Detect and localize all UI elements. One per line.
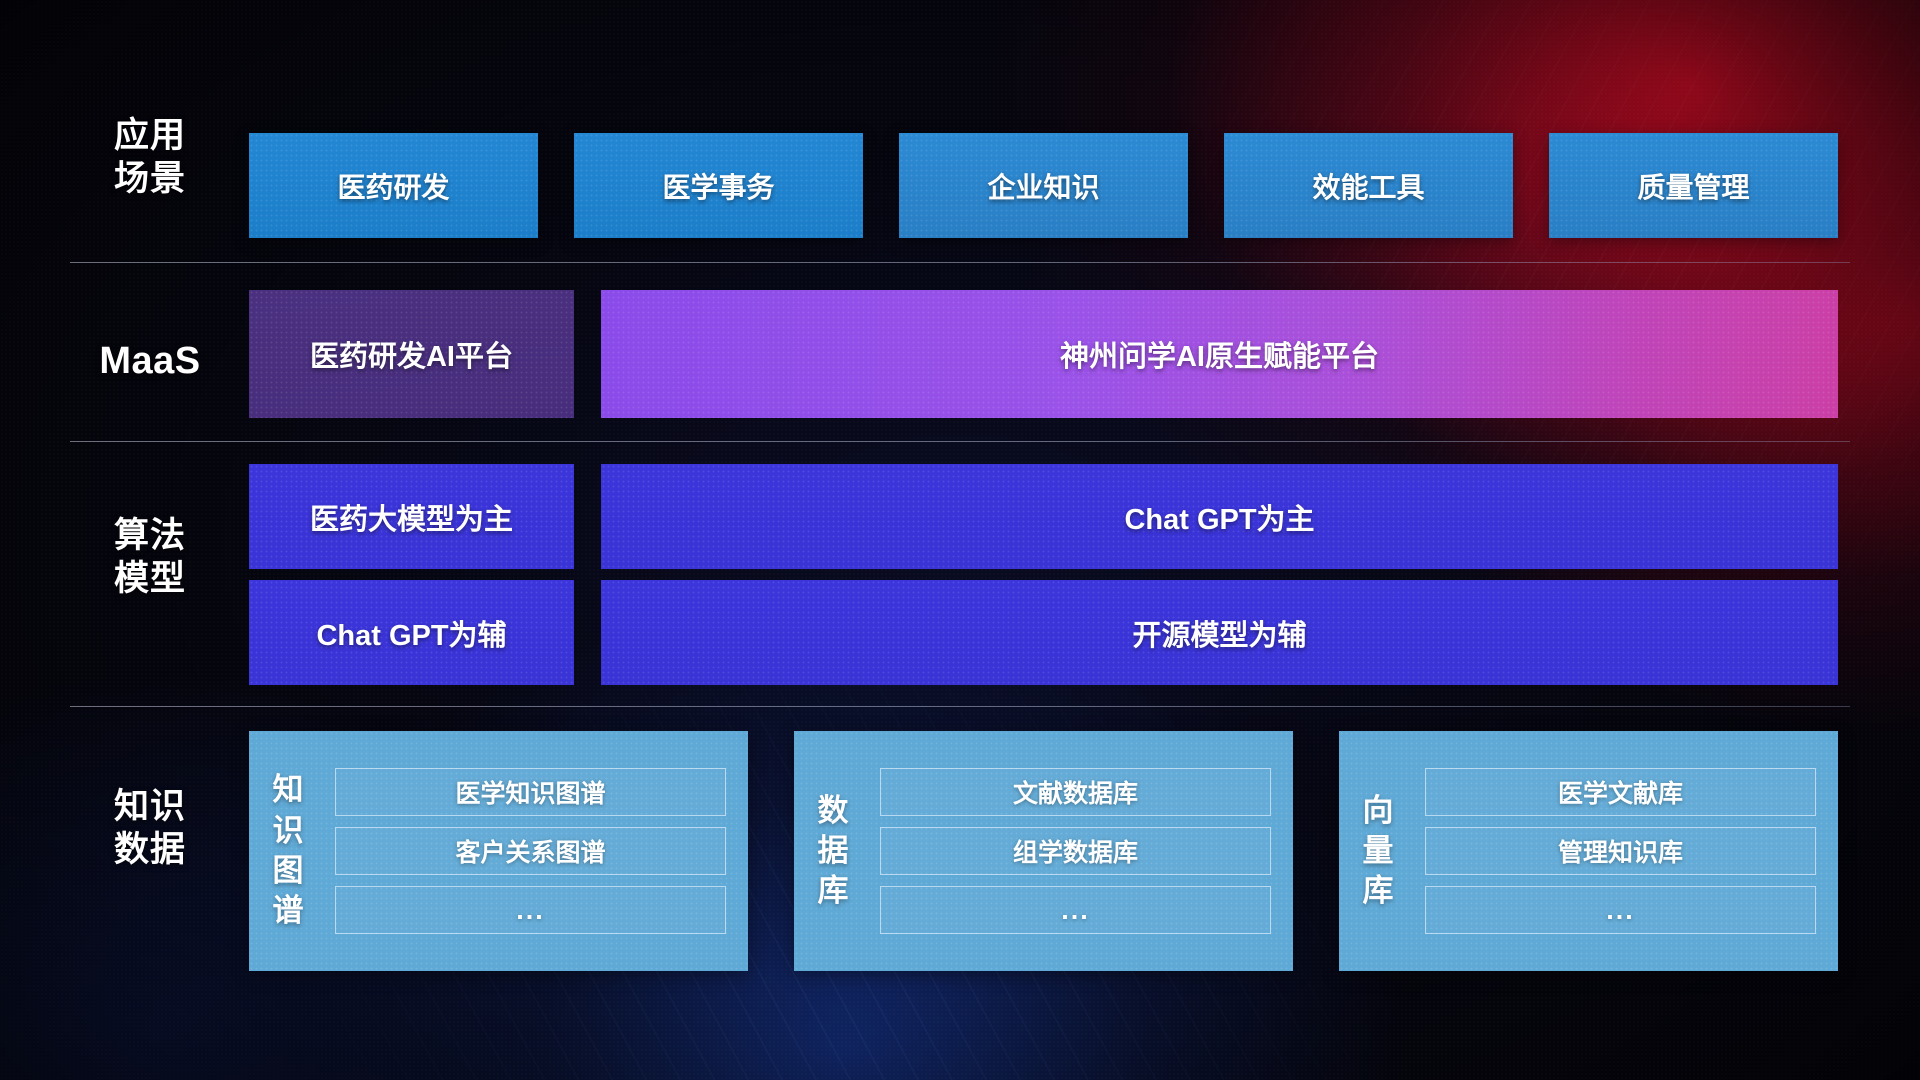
- knowledge-group-2-title-char-1: 量: [1363, 831, 1394, 871]
- row-label-knowledge: 知识 数据: [60, 786, 240, 871]
- scenario-box-2[interactable]: 企业知识: [899, 133, 1188, 238]
- knowledge-group-1-item-0[interactable]: 文献数据库: [880, 768, 1271, 816]
- scenario-box-2-label: 企业知识: [987, 166, 1099, 206]
- diagram-content: 应用 场景 医药研发 医学事务 企业知识 效能工具 质量管理 MaaS: [0, 0, 1920, 1080]
- algorithm-row1-left-box[interactable]: Chat GPT为辅: [249, 580, 574, 685]
- knowledge-group-1-title-char-1: 据: [818, 831, 849, 871]
- maas-left-box-label: 医药研发AI平台: [310, 333, 513, 375]
- row-label-algorithm: 算法 模型: [60, 515, 240, 600]
- knowledge-group-2-title: 向 量 库: [1339, 731, 1417, 971]
- row-label-scenario-line1: 应用: [60, 115, 240, 158]
- knowledge-group-2-items: 医学文献库 管理知识库 ...: [1417, 731, 1838, 971]
- divider-after-scenario: [70, 262, 1850, 263]
- knowledge-group-0-title-char-3: 谱: [273, 891, 304, 931]
- divider-after-maas: [70, 441, 1850, 442]
- scenario-box-0-label: 医药研发: [337, 166, 449, 206]
- architecture-diagram-slide: 应用 场景 医药研发 医学事务 企业知识 效能工具 质量管理 MaaS: [0, 0, 1920, 1080]
- algorithm-row0-left-box[interactable]: 医药大模型为主: [249, 464, 574, 569]
- algorithm-row1-right-box[interactable]: 开源模型为辅: [601, 580, 1838, 685]
- scenario-box-3[interactable]: 效能工具: [1224, 133, 1513, 238]
- row-label-knowledge-line1: 知识: [60, 786, 240, 829]
- row-label-algorithm-line2: 模型: [60, 558, 240, 601]
- knowledge-group-2-item-0[interactable]: 医学文献库: [1425, 768, 1816, 816]
- knowledge-group-1-title-char-2: 库: [818, 871, 849, 911]
- knowledge-group-2-title-char-0: 向: [1363, 791, 1394, 831]
- scenario-box-4[interactable]: 质量管理: [1549, 133, 1838, 238]
- scenario-box-0[interactable]: 医药研发: [249, 133, 538, 238]
- algorithm-row0-left-label: 医药大模型为主: [310, 496, 513, 538]
- knowledge-group-1-items: 文献数据库 组学数据库 ...: [872, 731, 1293, 971]
- algorithm-row1-right-label: 开源模型为辅: [1132, 612, 1306, 654]
- knowledge-group-1-title: 数 据 库: [794, 731, 872, 971]
- row-label-maas-text: MaaS: [60, 338, 240, 384]
- row-label-maas: MaaS: [60, 338, 240, 384]
- algorithm-row0-right-label: Chat GPT为主: [1124, 496, 1314, 538]
- knowledge-group-2[interactable]: 向 量 库 医学文献库 管理知识库 ...: [1339, 731, 1838, 971]
- scenario-box-4-label: 质量管理: [1637, 166, 1749, 206]
- knowledge-group-1-title-char-0: 数: [818, 791, 849, 831]
- divider-after-algorithm: [70, 706, 1850, 707]
- knowledge-group-0-title: 知 识 图 谱: [249, 731, 327, 971]
- row-label-scenario-line2: 场景: [60, 158, 240, 201]
- knowledge-group-1-item-1[interactable]: 组学数据库: [880, 827, 1271, 875]
- row-label-knowledge-line2: 数据: [60, 829, 240, 872]
- algorithm-row0-right-box[interactable]: Chat GPT为主: [601, 464, 1838, 569]
- knowledge-group-0-items: 医学知识图谱 客户关系图谱 ...: [327, 731, 748, 971]
- knowledge-group-2-title-char-2: 库: [1363, 871, 1394, 911]
- maas-left-box[interactable]: 医药研发AI平台: [249, 290, 574, 418]
- knowledge-group-0-title-char-2: 图: [273, 851, 304, 891]
- maas-right-box-label: 神州问学AI原生赋能平台: [1060, 333, 1379, 375]
- row-label-algorithm-line1: 算法: [60, 515, 240, 558]
- scenario-box-1-label: 医学事务: [662, 166, 774, 206]
- knowledge-group-0-item-0[interactable]: 医学知识图谱: [335, 768, 726, 816]
- knowledge-group-0-title-char-0: 知: [273, 770, 304, 810]
- knowledge-group-1[interactable]: 数 据 库 文献数据库 组学数据库 ...: [794, 731, 1293, 971]
- knowledge-group-0-item-2[interactable]: ...: [335, 886, 726, 934]
- scenario-box-3-label: 效能工具: [1312, 166, 1424, 206]
- knowledge-group-1-item-2[interactable]: ...: [880, 886, 1271, 934]
- knowledge-group-2-item-2[interactable]: ...: [1425, 886, 1816, 934]
- knowledge-group-0-item-1[interactable]: 客户关系图谱: [335, 827, 726, 875]
- knowledge-group-0[interactable]: 知 识 图 谱 医学知识图谱 客户关系图谱 ...: [249, 731, 748, 971]
- knowledge-group-0-title-char-1: 识: [273, 811, 304, 851]
- algorithm-row1-left-label: Chat GPT为辅: [316, 612, 506, 654]
- scenario-box-1[interactable]: 医学事务: [574, 133, 863, 238]
- knowledge-group-2-item-1[interactable]: 管理知识库: [1425, 827, 1816, 875]
- row-label-scenario: 应用 场景: [60, 115, 240, 200]
- maas-right-box[interactable]: 神州问学AI原生赋能平台: [601, 290, 1838, 418]
